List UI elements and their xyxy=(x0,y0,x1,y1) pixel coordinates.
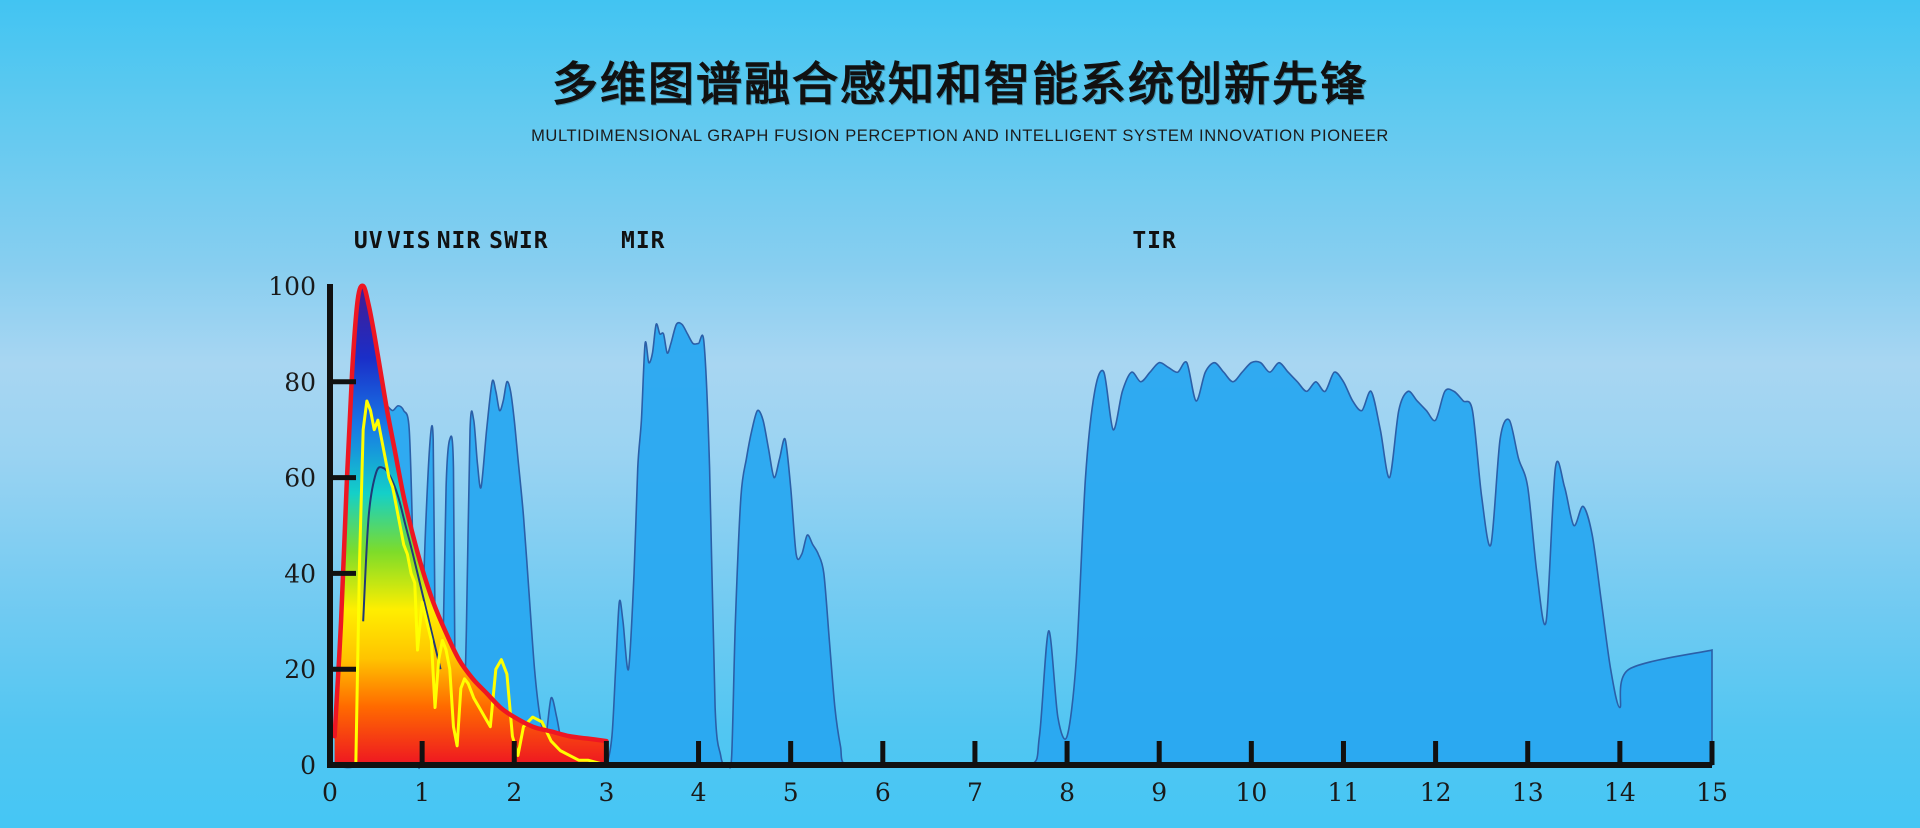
x-tick-label: 14 xyxy=(1604,778,1636,807)
y-tick-label: 20 xyxy=(284,655,316,684)
x-tick-label: 9 xyxy=(1151,778,1167,807)
band-label-mir: MIR xyxy=(621,228,666,254)
y-tick-label: 60 xyxy=(284,464,316,493)
y-tick-label: 80 xyxy=(284,368,316,397)
spectrum-chart: 020406080100 0123456789101112131415 UVVI… xyxy=(0,0,1920,828)
x-tick-label: 2 xyxy=(506,778,522,807)
x-tick-label: 0 xyxy=(322,778,338,807)
spectrum-svg: 020406080100 0123456789101112131415 UVVI… xyxy=(0,0,1920,828)
band-label-vis: VIS xyxy=(387,228,432,254)
x-tick-label: 11 xyxy=(1328,778,1360,807)
x-axis-tick-labels: 0123456789101112131415 xyxy=(322,778,1728,807)
band-label-nir: NIR xyxy=(437,228,482,254)
x-tick-label: 15 xyxy=(1696,778,1728,807)
x-tick-label: 5 xyxy=(783,778,799,807)
x-tick-label: 12 xyxy=(1420,778,1452,807)
transmission-area-series xyxy=(330,323,1712,769)
band-label-tir: TIR xyxy=(1132,228,1177,254)
x-tick-label: 13 xyxy=(1512,778,1544,807)
y-tick-label: 0 xyxy=(300,751,316,780)
x-tick-label: 10 xyxy=(1235,778,1267,807)
y-tick-label: 100 xyxy=(268,272,316,301)
y-tick-label: 40 xyxy=(284,559,316,588)
x-tick-label: 7 xyxy=(967,778,983,807)
band-label-swir: SWIR xyxy=(489,228,548,254)
x-tick-label: 3 xyxy=(598,778,614,807)
x-tick-label: 4 xyxy=(691,778,707,807)
x-tick-label: 6 xyxy=(875,778,891,807)
y-axis-tick-labels: 020406080100 xyxy=(268,272,316,780)
band-label-uv: UV xyxy=(354,228,384,254)
x-tick-label: 8 xyxy=(1059,778,1075,807)
x-tick-label: 1 xyxy=(414,778,430,807)
band-labels-group: UVVISNIRSWIRMIRTIR xyxy=(354,228,1177,254)
